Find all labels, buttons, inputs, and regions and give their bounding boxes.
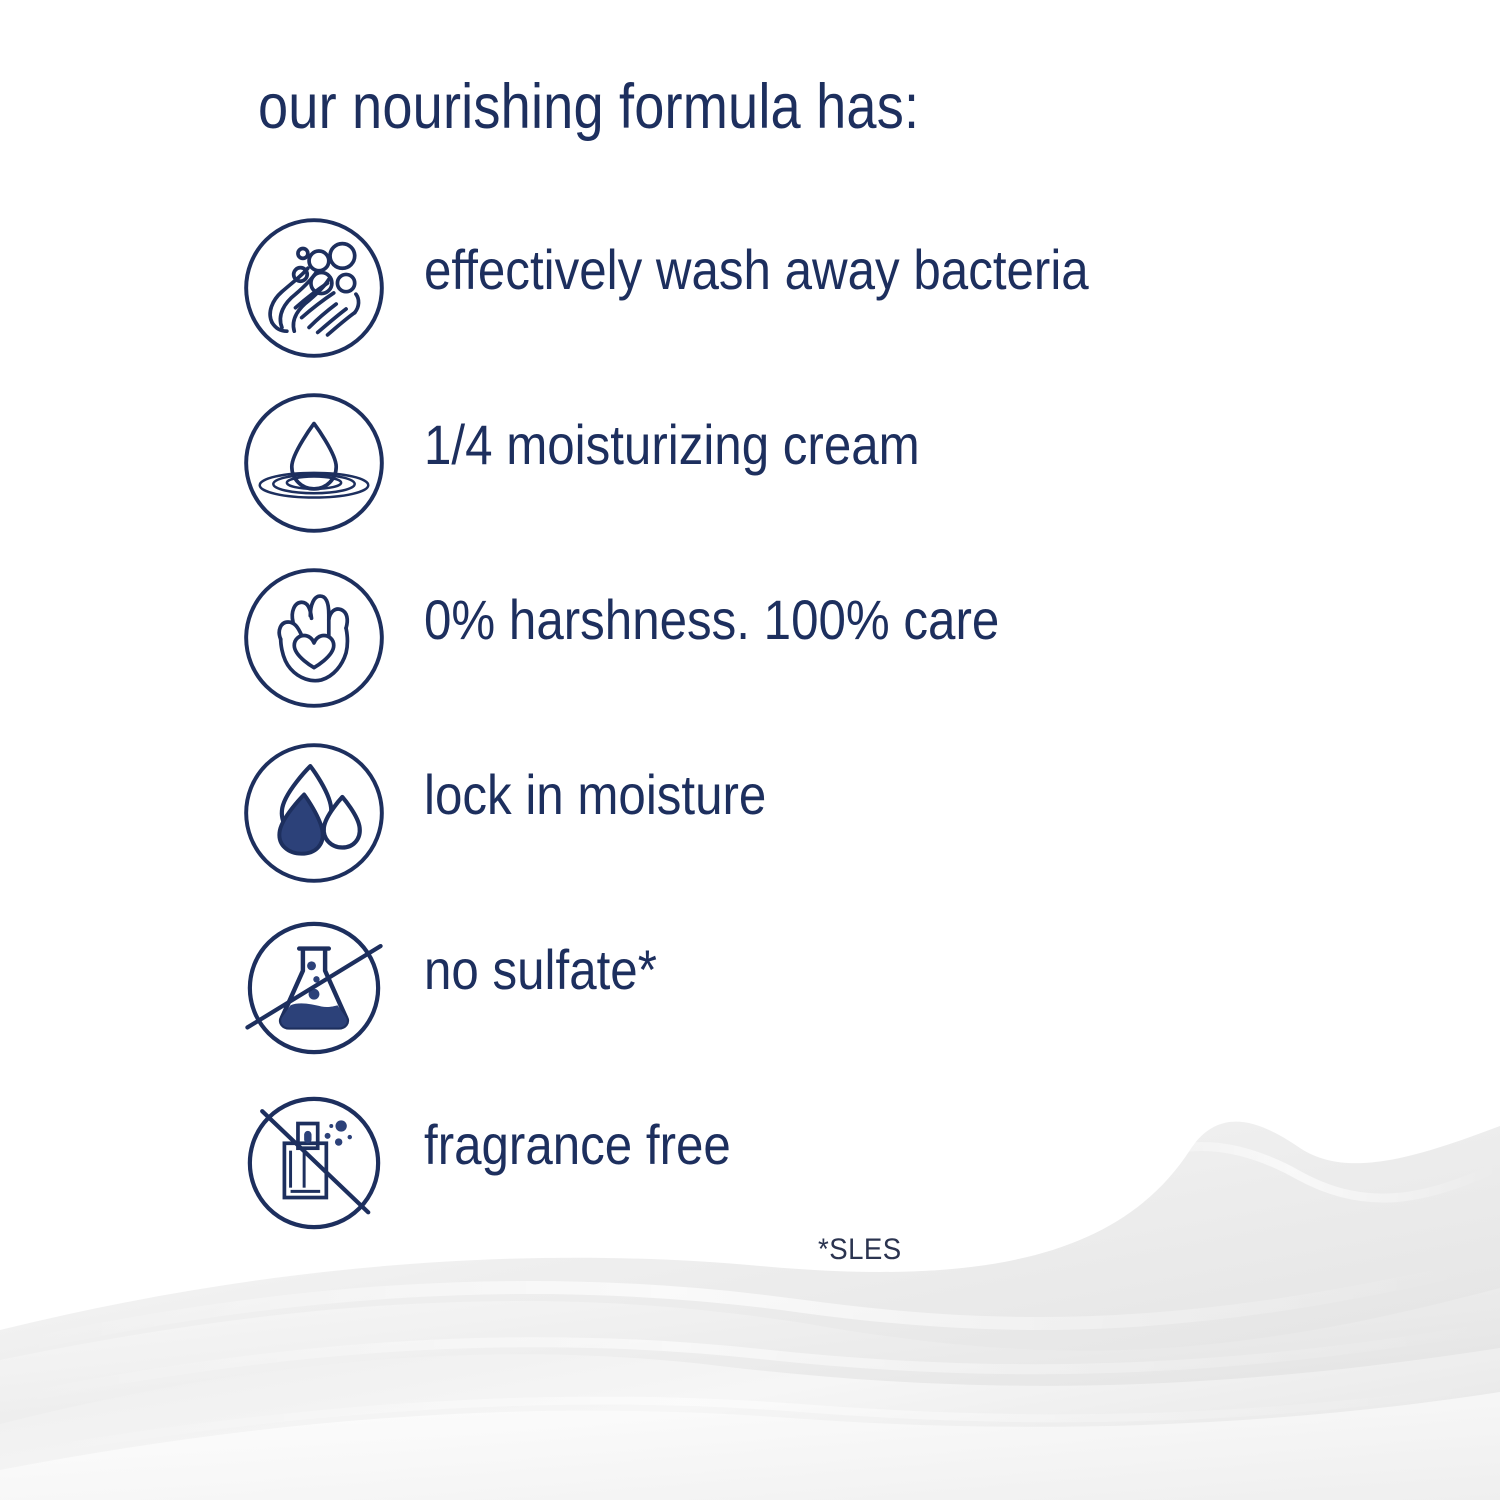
benefit-row: lock in moisture — [0, 739, 1500, 914]
hand-with-heart-icon — [240, 564, 388, 712]
no-flask-icon — [240, 914, 388, 1062]
benefit-row: 0% harshness. 100% care — [0, 564, 1500, 739]
benefit-row: fragrance free — [0, 1089, 1500, 1264]
three-droplets-icon — [240, 739, 388, 887]
benefit-row: 1/4 moisturizing cream — [0, 389, 1500, 564]
benefit-label: lock in moisture — [424, 767, 766, 823]
no-perfume-bottle-icon — [240, 1089, 388, 1237]
benefit-label: 0% harshness. 100% care — [424, 592, 999, 648]
footnote-sles: *SLES — [818, 1233, 902, 1267]
water-droplet-ripple-icon — [240, 389, 388, 537]
benefit-label: 1/4 moisturizing cream — [424, 417, 920, 473]
washing-hands-icon — [240, 214, 388, 362]
benefit-label: fragrance free — [424, 1117, 731, 1173]
benefit-label: effectively wash away bacteria — [424, 242, 1089, 298]
benefit-list: effectively wash away bacteria 1/4 moist… — [0, 214, 1500, 1264]
benefit-row: no sulfate* — [0, 914, 1500, 1089]
benefit-label: no sulfate* — [424, 942, 657, 998]
benefit-row: effectively wash away bacteria — [0, 214, 1500, 389]
page-title: our nourishing formula has: — [258, 76, 919, 139]
product-benefits-infographic: our nourishing formula has: — [0, 0, 1500, 1500]
